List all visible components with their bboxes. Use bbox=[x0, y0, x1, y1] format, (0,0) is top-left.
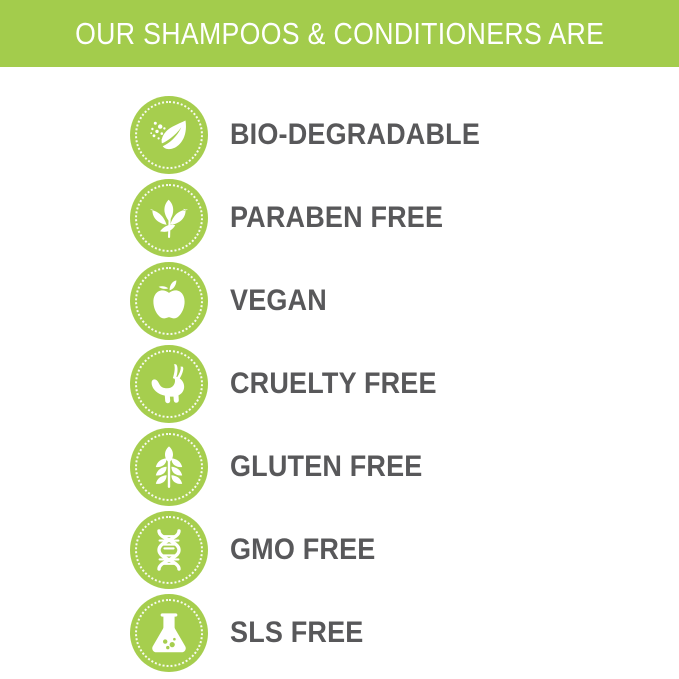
dissolving-leaf-icon bbox=[145, 111, 193, 159]
list-item: GLUTEN FREE bbox=[0, 425, 679, 508]
infographic-page: OUR SHAMPOOS & CONDITIONERS ARE bbox=[0, 0, 679, 679]
list-item-label: BIO-DEGRADABLE bbox=[230, 120, 480, 150]
flask-icon bbox=[145, 609, 193, 657]
list-item-label: VEGAN bbox=[230, 286, 327, 316]
badge-gluten-free bbox=[130, 428, 208, 506]
badge-sls-free bbox=[130, 594, 208, 672]
apple-icon bbox=[145, 277, 193, 325]
header-banner: OUR SHAMPOOS & CONDITIONERS ARE bbox=[0, 0, 679, 67]
list-item: BIO-DEGRADABLE bbox=[0, 93, 679, 176]
page-title: OUR SHAMPOOS & CONDITIONERS ARE bbox=[75, 18, 604, 49]
badge-gmo-free bbox=[130, 511, 208, 589]
list-item: PARABEN FREE bbox=[0, 176, 679, 259]
rabbit-icon bbox=[145, 360, 193, 408]
wheat-icon bbox=[145, 443, 193, 491]
list-item-label: GLUTEN FREE bbox=[230, 452, 422, 482]
badge-cruelty-free bbox=[130, 345, 208, 423]
dna-helix-icon bbox=[145, 526, 193, 574]
attribute-list: BIO-DEGRADABLE bbox=[0, 67, 679, 679]
leaf-sprig-icon bbox=[145, 194, 193, 242]
list-item: SLS FREE bbox=[0, 591, 679, 674]
list-item: CRUELTY FREE bbox=[0, 342, 679, 425]
list-item: GMO FREE bbox=[0, 508, 679, 591]
list-item-label: CRUELTY FREE bbox=[230, 369, 437, 399]
list-item-label: PARABEN FREE bbox=[230, 203, 443, 233]
list-item-label: GMO FREE bbox=[230, 535, 375, 565]
badge-paraben-free bbox=[130, 179, 208, 257]
badge-vegan bbox=[130, 262, 208, 340]
badge-bio-degradable bbox=[130, 96, 208, 174]
list-item: VEGAN bbox=[0, 259, 679, 342]
list-item-label: SLS FREE bbox=[230, 618, 363, 648]
